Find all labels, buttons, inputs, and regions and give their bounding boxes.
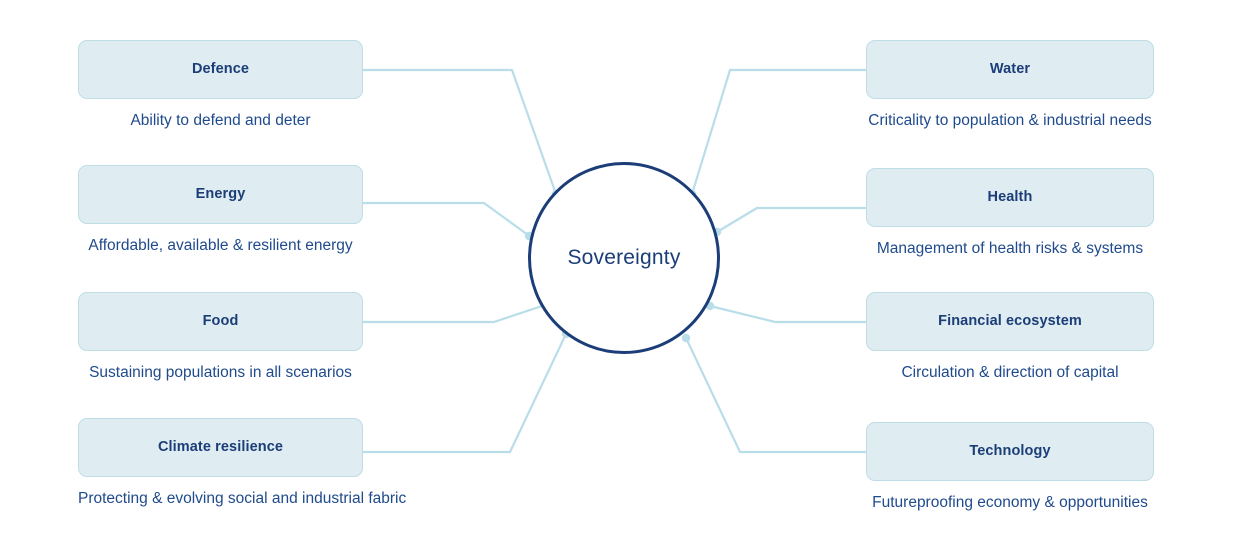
connector-energy bbox=[363, 203, 528, 235]
pillar-climate-resilience[interactable]: Climate resilience Protecting & evolving… bbox=[78, 418, 363, 508]
connector-dot-technology bbox=[682, 334, 690, 342]
pillar-health-label: Health bbox=[988, 190, 1033, 206]
pillar-climate-resilience-description: Protecting & evolving social and industr… bbox=[78, 490, 363, 508]
pillar-defence-label: Defence bbox=[192, 62, 249, 78]
connector-climate bbox=[363, 334, 566, 452]
connector-defence bbox=[363, 70, 556, 194]
pillar-energy-label: Energy bbox=[196, 187, 246, 203]
pillar-defence-description: Ability to defend and deter bbox=[78, 112, 363, 130]
pillar-water-box[interactable]: Water bbox=[866, 40, 1154, 99]
pillar-financial-ecosystem[interactable]: Financial ecosystem Circulation & direct… bbox=[866, 292, 1154, 382]
pillar-energy-box[interactable]: Energy bbox=[78, 165, 363, 224]
pillar-food-label: Food bbox=[203, 314, 239, 330]
connector-technology bbox=[686, 338, 866, 452]
pillar-food[interactable]: Food Sustaining populations in all scena… bbox=[78, 292, 363, 382]
pillar-financial-ecosystem-box[interactable]: Financial ecosystem bbox=[866, 292, 1154, 351]
pillar-energy-description: Affordable, available & resilient energy bbox=[78, 237, 363, 255]
pillar-climate-resilience-label: Climate resilience bbox=[158, 440, 283, 456]
diagram-canvas: Defence Ability to defend and deter Ener… bbox=[0, 0, 1237, 549]
connector-water bbox=[692, 70, 866, 194]
pillar-health[interactable]: Health Management of health risks & syst… bbox=[866, 168, 1154, 258]
pillar-food-description: Sustaining populations in all scenarios bbox=[78, 364, 363, 382]
pillar-defence[interactable]: Defence Ability to defend and deter bbox=[78, 40, 363, 130]
pillar-water[interactable]: Water Criticality to population & indust… bbox=[866, 40, 1154, 130]
connector-food bbox=[363, 300, 560, 322]
pillar-food-box[interactable]: Food bbox=[78, 292, 363, 351]
pillar-climate-resilience-box[interactable]: Climate resilience bbox=[78, 418, 363, 477]
pillar-health-description: Management of health risks & systems bbox=[866, 240, 1154, 258]
pillar-water-label: Water bbox=[990, 62, 1030, 78]
center-node-sovereignty[interactable]: Sovereignty bbox=[528, 162, 720, 354]
pillar-technology-label: Technology bbox=[969, 444, 1050, 460]
connector-financial bbox=[710, 306, 866, 322]
pillar-technology[interactable]: Technology Futureproofing economy & oppo… bbox=[866, 422, 1154, 512]
pillar-water-description: Criticality to population & industrial n… bbox=[866, 112, 1154, 130]
pillar-defence-box[interactable]: Defence bbox=[78, 40, 363, 99]
connector-health bbox=[717, 208, 866, 232]
pillar-energy[interactable]: Energy Affordable, available & resilient… bbox=[78, 165, 363, 255]
pillar-technology-box[interactable]: Technology bbox=[866, 422, 1154, 481]
pillar-health-box[interactable]: Health bbox=[866, 168, 1154, 227]
center-node-label: Sovereignty bbox=[567, 246, 680, 270]
pillar-technology-description: Futureproofing economy & opportunities bbox=[866, 494, 1154, 512]
pillar-financial-ecosystem-label: Financial ecosystem bbox=[938, 314, 1082, 330]
pillar-financial-ecosystem-description: Circulation & direction of capital bbox=[866, 364, 1154, 382]
